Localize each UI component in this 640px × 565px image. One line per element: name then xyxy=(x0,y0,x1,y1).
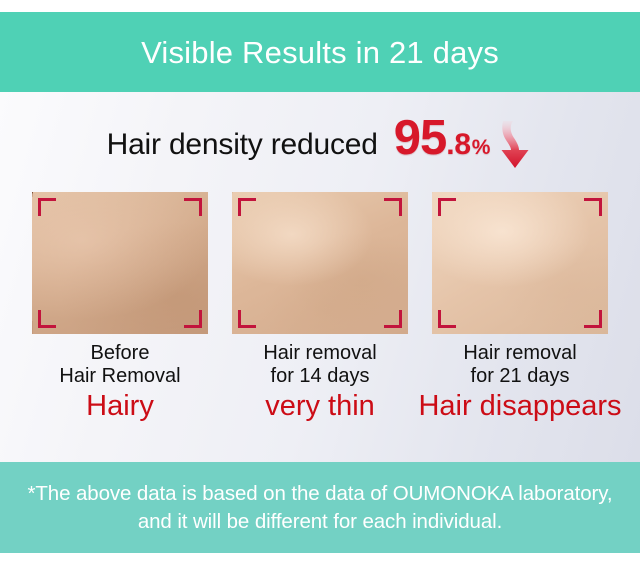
skin-texture-clear xyxy=(432,192,608,334)
corner-bracket-bottom-left xyxy=(438,310,456,328)
page-title: Visible Results in 21 days xyxy=(141,37,499,68)
panel-14-days: Hair removal for 14 days very thin xyxy=(232,192,408,424)
corner-bracket-top-right xyxy=(384,198,402,216)
header-band: Visible Results in 21 days xyxy=(0,12,640,92)
skin-photo-before xyxy=(32,192,208,334)
corner-bracket-bottom-left xyxy=(38,310,56,328)
skin-photo-21-days xyxy=(432,192,608,334)
headline-row: Hair density reduced 95 .8 % xyxy=(0,114,640,178)
corner-bracket-bottom-right xyxy=(184,310,202,328)
panel-caption-21-days: Hair removal for 21 days Hair disappears xyxy=(415,342,625,424)
skin-texture-thin xyxy=(232,192,408,334)
promotional-poster: Visible Results in 21 days Hair density … xyxy=(0,0,640,565)
corner-bracket-top-right xyxy=(584,198,602,216)
comparison-panels: Before Hair Removal Hairy Hair removal f… xyxy=(0,192,640,424)
skin-texture-hairy xyxy=(32,192,208,334)
corner-bracket-bottom-right xyxy=(584,310,602,328)
percent-sign: % xyxy=(472,137,491,158)
corner-bracket-top-left xyxy=(38,198,56,216)
caption-line-1: Before xyxy=(15,342,225,365)
corner-bracket-top-left xyxy=(438,198,456,216)
caption-line-1: Hair removal xyxy=(415,342,625,365)
panel-before: Before Hair Removal Hairy xyxy=(32,192,208,424)
panel-caption-before: Before Hair Removal Hairy xyxy=(15,342,225,424)
percent-decimal: .8 xyxy=(446,130,470,160)
caption-line-1: Hair removal xyxy=(215,342,425,365)
skin-photo-14-days xyxy=(232,192,408,334)
caption-line-2: for 21 days xyxy=(415,365,625,388)
down-arrow-icon xyxy=(497,119,533,176)
caption-highlight: very thin xyxy=(215,389,425,424)
panel-caption-14-days: Hair removal for 14 days very thin xyxy=(215,342,425,424)
percent-value: 95 .8 % xyxy=(394,114,534,171)
corner-bracket-bottom-left xyxy=(238,310,256,328)
caption-highlight: Hairy xyxy=(15,389,225,424)
corner-bracket-bottom-right xyxy=(384,310,402,328)
caption-highlight: Hair disappears xyxy=(415,389,625,424)
caption-line-2: for 14 days xyxy=(215,365,425,388)
percent-integer: 95 xyxy=(394,114,447,163)
footer-band: *The above data is based on the data of … xyxy=(0,462,640,553)
disclaimer-text: *The above data is based on the data of … xyxy=(12,480,628,534)
corner-bracket-top-right xyxy=(184,198,202,216)
caption-line-2: Hair Removal xyxy=(15,365,225,388)
corner-bracket-top-left xyxy=(238,198,256,216)
main-content: Hair density reduced 95 .8 % xyxy=(0,92,640,462)
panel-21-days: Hair removal for 21 days Hair disappears xyxy=(432,192,608,424)
headline-label: Hair density reduced xyxy=(107,128,378,162)
